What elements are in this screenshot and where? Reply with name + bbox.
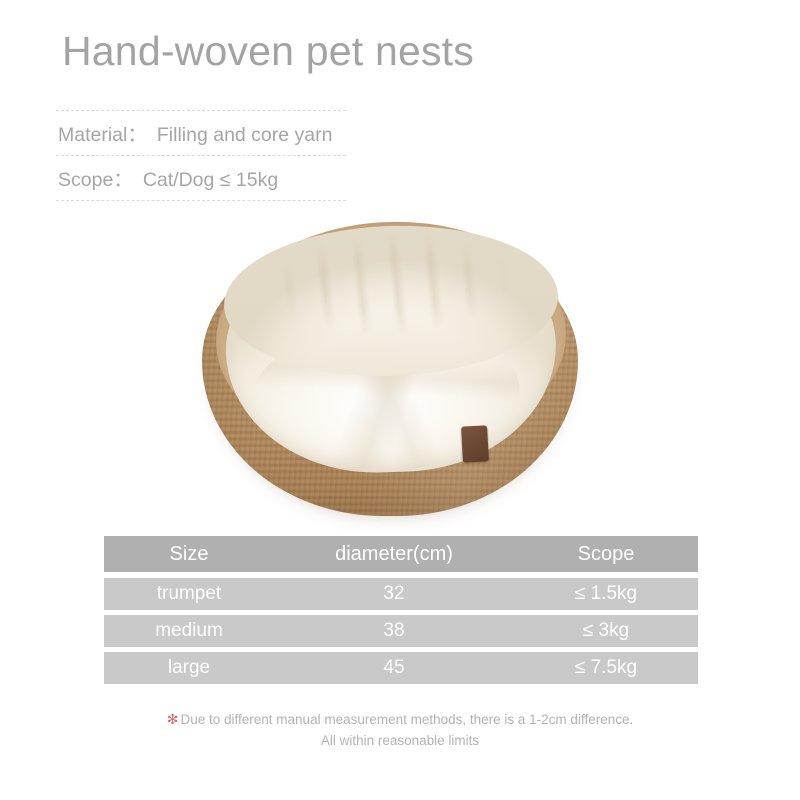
- cell-scope: ≤ 3kg: [514, 620, 698, 642]
- cell-size: large: [104, 657, 274, 679]
- footnote: ✻Due to different manual measurement met…: [0, 709, 800, 752]
- spec-colon-material: ：: [127, 118, 157, 147]
- footnote-line-1: ✻Due to different manual measurement met…: [0, 709, 800, 731]
- cell-diameter: 38: [274, 620, 514, 642]
- leather-brand-tag: [461, 425, 489, 462]
- spec-row-material: Material ： Filling and core yarn: [56, 111, 346, 155]
- table-row: trumpet 32 ≤ 1.5kg: [104, 578, 698, 610]
- spec-value-scope: Cat/Dog ≤ 15kg: [143, 169, 278, 192]
- size-table: Size diameter(cm) Scope trumpet 32 ≤ 1.5…: [104, 536, 698, 689]
- spec-colon-scope: ：: [113, 163, 143, 192]
- page-title: Hand-woven pet nests: [62, 28, 474, 75]
- table-header-diameter: diameter(cm): [274, 543, 514, 566]
- spec-list: Material ： Filling and core yarn Scope ：…: [56, 110, 346, 201]
- spec-divider-bottom: [56, 200, 346, 201]
- spec-label-material: Material: [58, 124, 127, 147]
- product-photo-pet-nest: [190, 212, 590, 517]
- table-header-scope: Scope: [514, 543, 698, 566]
- table-header-row: Size diameter(cm) Scope: [104, 536, 698, 572]
- pet-nest-illustration: [190, 212, 590, 517]
- footnote-line-2: All within reasonable limits: [0, 731, 800, 752]
- table-row: medium 38 ≤ 3kg: [104, 615, 698, 647]
- cell-scope: ≤ 7.5kg: [514, 657, 698, 679]
- cell-diameter: 32: [274, 583, 514, 605]
- table-header-size: Size: [104, 543, 274, 566]
- spec-value-material: Filling and core yarn: [157, 124, 333, 147]
- cell-scope: ≤ 1.5kg: [514, 583, 698, 605]
- table-row: large 45 ≤ 7.5kg: [104, 652, 698, 684]
- cell-size: trumpet: [104, 583, 274, 605]
- asterisk-icon: ✻: [167, 711, 181, 727]
- spec-label-scope: Scope: [58, 169, 113, 192]
- spec-row-scope: Scope ： Cat/Dog ≤ 15kg: [56, 156, 346, 200]
- cell-diameter: 45: [274, 657, 514, 679]
- footnote-text-1: Due to different manual measurement meth…: [180, 712, 633, 727]
- cell-size: medium: [104, 620, 274, 642]
